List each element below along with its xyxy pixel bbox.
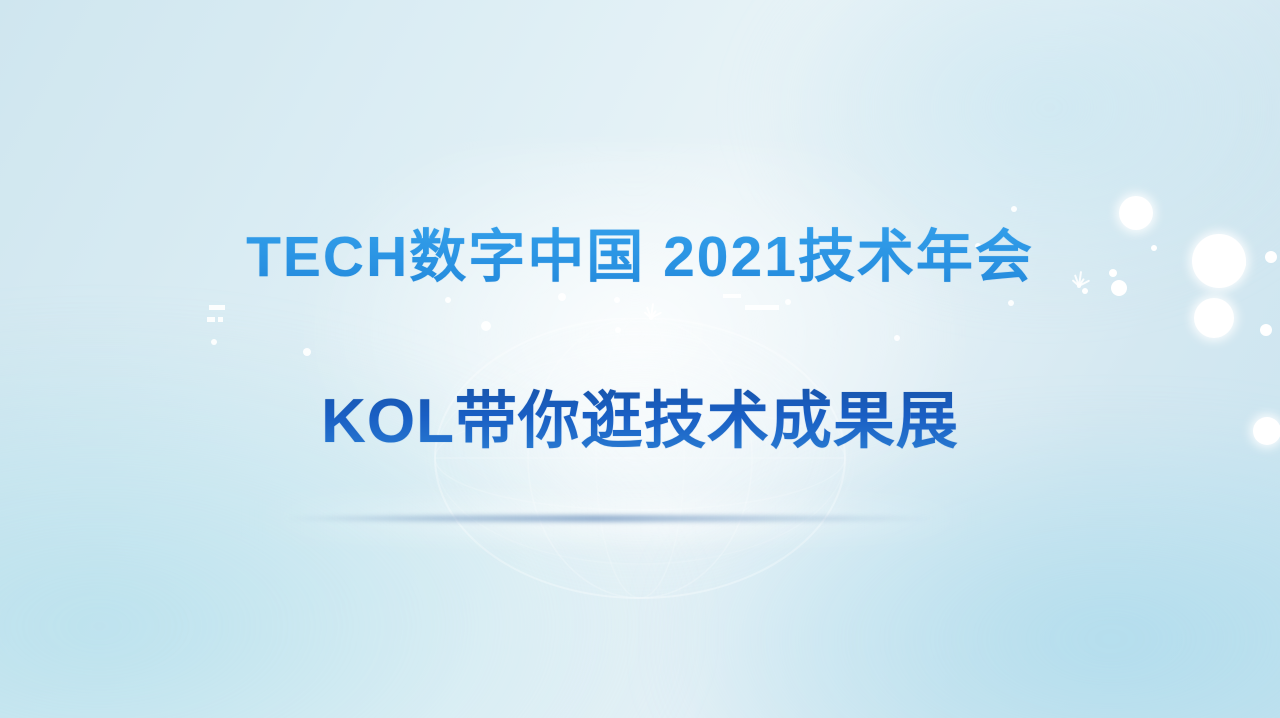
- video-title-card: TECH数字中国 2021技术年会 KOL带你逛技术成果展: [0, 0, 1280, 718]
- background-tint-bottom-right: [666, 416, 1280, 718]
- light-streak: [280, 515, 940, 522]
